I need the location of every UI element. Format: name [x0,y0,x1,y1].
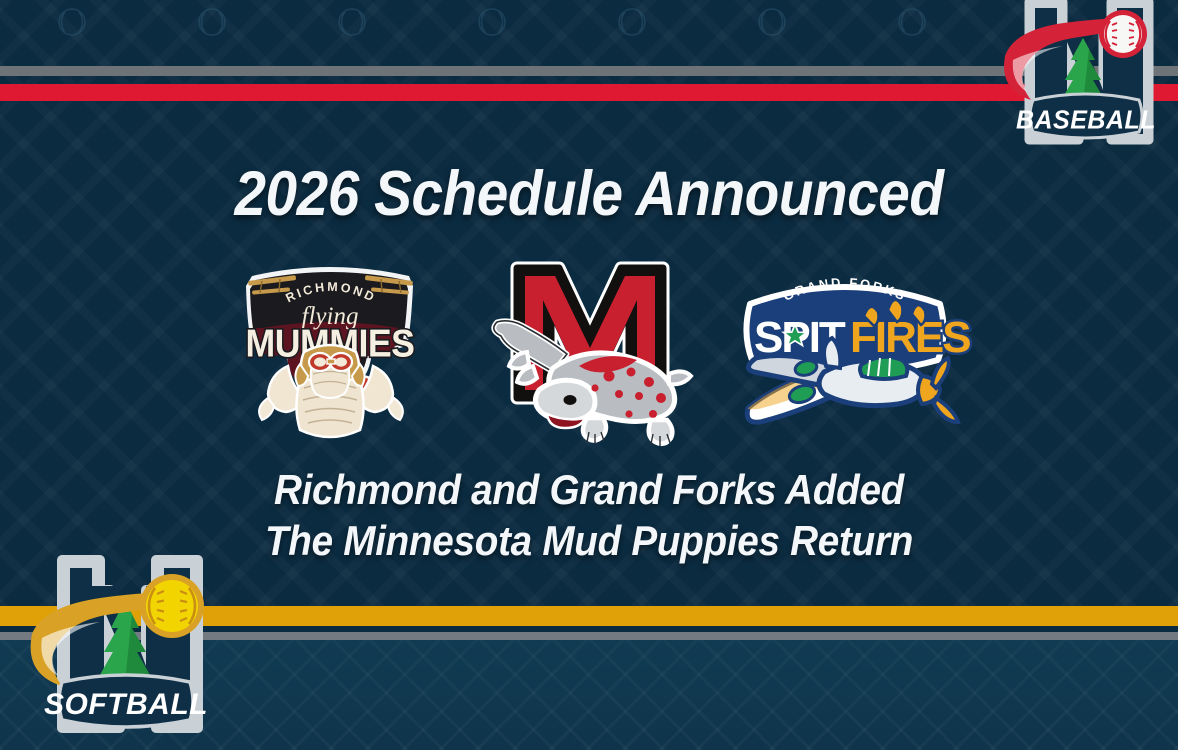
logo-minnesota-mud-puppies [483,248,698,448]
logo-richmond-flying-mummies: RICHMOND flying [228,248,433,448]
page-title: 2026 Schedule Announced [59,158,1119,230]
promo-graphic: 2026 Schedule Announced RICHMOND [0,0,1178,750]
league-mark-baseball: BASEBALL [999,0,1174,149]
softball-wordmark-banner: SOFTBALL [44,675,208,727]
baseball-wordmark-banner: BASEBALL [1016,94,1156,138]
logo-grand-forks-spitfires: GRAND FORKS SPIT FIRES [738,248,950,448]
league-mark-softball: SOFTBALL [22,548,227,750]
subtitle-line-1: Richmond and Grand Forks Added [47,464,1131,515]
softball-icon [140,574,204,638]
baseball-wordmark: BASEBALL [1016,106,1156,134]
softball-wordmark: SOFTBALL [44,688,208,721]
baseball-icon [1099,10,1147,58]
team-logo-row: RICHMOND flying [0,248,1178,448]
